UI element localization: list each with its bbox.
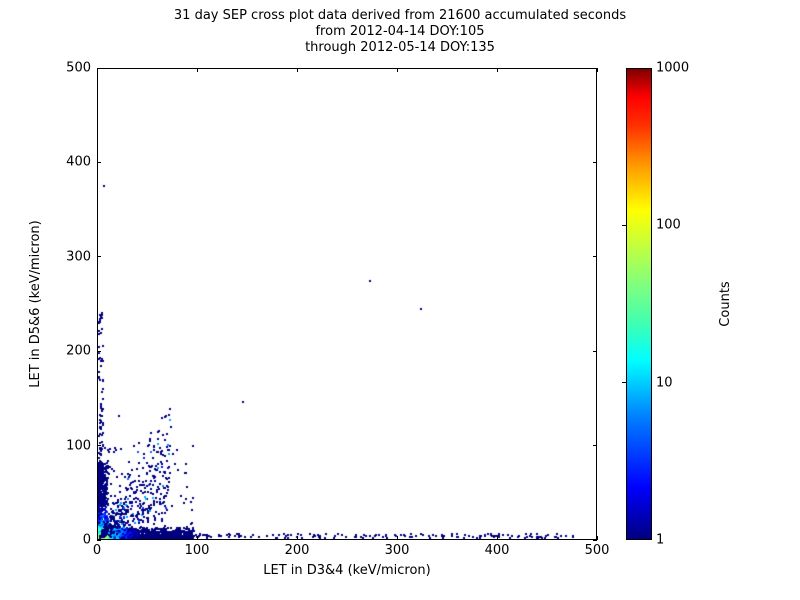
y-tick-mark [97, 68, 101, 69]
title-line-1: 31 day SEP cross plot data derived from … [0, 8, 800, 24]
y-tick-mark [97, 256, 101, 257]
chart-title: 31 day SEP cross plot data derived from … [0, 8, 800, 56]
colorbar-tick-label: 100 [656, 218, 681, 233]
x-tick-mark-top [297, 68, 298, 72]
y-tick-mark-right [593, 162, 597, 163]
y-tick-mark-right [593, 256, 597, 257]
x-tick-mark-top [397, 68, 398, 72]
x-tick-label: 400 [485, 543, 510, 558]
colorbar[interactable] [626, 68, 652, 540]
x-tick-mark [297, 536, 298, 540]
x-tick-mark-top [597, 68, 598, 72]
y-tick-mark-right [593, 445, 597, 446]
x-tick-mark [397, 536, 398, 540]
x-tick-mark-top [197, 68, 198, 72]
y-tick-label: 500 [49, 61, 91, 76]
x-tick-label: 100 [185, 543, 210, 558]
y-tick-label: 0 [49, 533, 91, 548]
y-axis-label: LET in D5&6 (keV/micron) [28, 220, 43, 388]
y-tick-mark [97, 540, 101, 541]
colorbar-tick-label: 10 [656, 375, 673, 390]
y-tick-mark [97, 351, 101, 352]
colorbar-tick-mark [622, 225, 626, 226]
x-tick-mark-top [97, 68, 98, 72]
x-tick-mark-top [497, 68, 498, 72]
y-tick-mark [97, 162, 101, 163]
colorbar-tick-mark [622, 382, 626, 383]
plot-area[interactable] [97, 68, 597, 540]
y-tick-label: 200 [49, 344, 91, 359]
title-line-2: from 2012-04-14 DOY:105 [0, 24, 800, 40]
x-tick-mark [497, 536, 498, 540]
colorbar-label: Counts [718, 281, 733, 326]
title-line-3: through 2012-05-14 DOY:135 [0, 40, 800, 56]
x-tick-label: 300 [385, 543, 410, 558]
x-tick-mark [197, 536, 198, 540]
y-tick-label: 300 [49, 249, 91, 264]
colorbar-tick-label: 1000 [656, 61, 689, 76]
x-axis-label: LET in D3&4 (keV/micron) [97, 563, 597, 578]
x-tick-label: 500 [585, 543, 610, 558]
y-tick-mark-right [593, 351, 597, 352]
colorbar-tick-label: 1 [656, 533, 664, 548]
y-tick-mark-right [593, 68, 597, 69]
x-tick-label: 0 [93, 543, 101, 558]
scatter-data-layer [98, 69, 596, 539]
y-tick-mark [97, 445, 101, 446]
y-tick-label: 400 [49, 155, 91, 170]
figure-canvas: 31 day SEP cross plot data derived from … [0, 0, 800, 600]
y-tick-mark-right [593, 540, 597, 541]
y-tick-label: 100 [49, 438, 91, 453]
x-tick-label: 200 [285, 543, 310, 558]
